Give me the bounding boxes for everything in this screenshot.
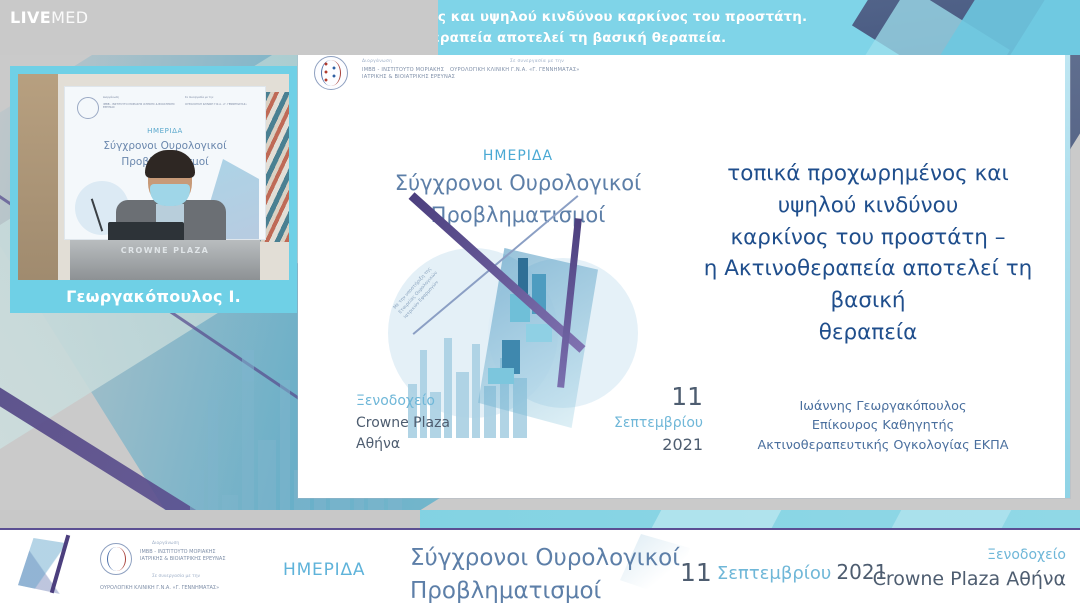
backdrop-coop-label: Σε συνεργασία με την (185, 96, 213, 99)
podium: CROWNE PLAZA (70, 240, 260, 280)
livemed-logo-bold: LIVE (10, 8, 51, 27)
speaker-name-band: Γεωργακόπουλος Ι. (10, 280, 297, 313)
footer-dna-helix-icon (107, 547, 126, 571)
slide-event-title: Σύγχρονοι Ουρολογικοί Προβληματισμοί (388, 168, 648, 231)
livemed-logo-light: MED (51, 8, 88, 27)
footer-kicker: ΗΜΕΡΙΔΑ (283, 560, 365, 580)
podium-label: CROWNE PLAZA (70, 246, 260, 255)
slide-body-line-2: καρκίνος του προστάτη – (688, 222, 1048, 254)
footer-event-title-line-2: Προβληματισμοί (410, 575, 680, 608)
slide-venue-hotel: Crowne Plaza (356, 413, 450, 435)
slide-org-name-line-2: ΙΑΤΡΙΚΗΣ & ΒΙΟΙΑΤΡΙΚΗΣ ΕΡΕΥΝΑΣ (362, 74, 455, 81)
slide-venue-city: Αθήνα (356, 434, 450, 456)
speaker-video-feed[interactable]: Διοργάνωση ΙΜΒΒ - ΙΝΣΤΙΤΟΥΤΟ ΜΟΡΙΑΚΗΣ ΙΑ… (18, 74, 289, 280)
footer-artwork (18, 538, 104, 600)
footer-event-title-line-1: Σύγχρονοι Ουρολογικοί (410, 542, 680, 575)
event-footer-banner: Διοργάνωση ΙΜΒΒ - ΙΝΣΤΙΤΟΥΤΟ ΜΟΡΙΑΚΗΣ ΙΑ… (0, 528, 1080, 608)
slide-coop-name: ΟΥΡΟΛΟΓΙΚΗ ΚΛΙΝΙΚΗ Γ.Ν.Α. «Γ. ΓΕΝΝΗΜΑΤΑΣ… (450, 67, 580, 74)
slide-coop-label: Σε συνεργασία με την (510, 59, 564, 64)
slide-body-line-4: θεραπεία (688, 317, 1048, 349)
footer-org-label: Διοργάνωση (152, 541, 179, 546)
slide-title-block: ΗΜΕΡΙΔΑ Σύγχρονοι Ουρολογικοί Προβληματι… (388, 148, 648, 231)
credit-department: Ακτινοθεραπευτικής Ογκολογίας ΕΚΠΑ (718, 436, 1048, 456)
slide-venue-label: Ξενοδοχείο (356, 391, 450, 413)
footer-coop-label: Σε συνεργασία με την (152, 574, 200, 579)
presentation-slide[interactable]: Διοργάνωση ΙΜΒΒ - ΙΝΣΤΙΤΟΥΤΟ ΜΟΡΙΑΚΗΣ ΙΑ… (298, 48, 1070, 498)
slide-kicker: ΗΜΕΡΙΔΑ (388, 148, 648, 164)
dna-dots-icon (323, 60, 337, 86)
backdrop-kicker: ΗΜΕΡΙΔΑ (65, 127, 265, 135)
speaker-hair (145, 150, 195, 178)
footer-date-month: Σεπτεμβρίου (717, 563, 831, 584)
webinar-player: Τοπικά προχωρημένος και υψηλού κινδύνου … (0, 0, 1080, 608)
backdrop-coop-name: ΟΥΡΟΛΟΓΙΚΗ ΚΛΙΝΙΚΗ Γ.Ν.Α. «Γ. ΓΕΝΝΗΜΑΤΑΣ… (185, 103, 261, 106)
slide-org-label: Διοργάνωση (362, 59, 392, 64)
slide-speaker-credit: Ιωάννης Γεωργακόπουλος Επίκουρος Καθηγητ… (718, 397, 1048, 456)
footer-date-day: 11 (680, 558, 712, 587)
slide-right-edge-accent (1065, 48, 1070, 498)
footer-event-title: Σύγχρονοι Ουρολογικοί Προβληματισμοί (410, 542, 680, 607)
livemed-logo[interactable]: LIVEMED (10, 8, 89, 27)
video-wood-panel (18, 74, 58, 280)
slide-body-title: τοπικά προχωρημένος και υψηλού κινδύνου … (688, 158, 1048, 349)
credit-name: Ιωάννης Γεωργακόπουλος (718, 397, 1048, 417)
slide-body-line-1: τοπικά προχωρημένος και υψηλού κινδύνου (688, 158, 1048, 222)
speaker-video-panel[interactable]: Διοργάνωση ΙΜΒΒ - ΙΝΣΤΙΤΟΥΤΟ ΜΟΡΙΑΚΗΣ ΙΑ… (10, 66, 297, 313)
imbb-logo-icon (314, 56, 348, 90)
backdrop-org-logo-icon (77, 97, 99, 119)
slide-date-day: 11 (583, 379, 703, 414)
slide-body-line-3: η Ακτινοθεραπεία αποτελεί τη βασική (688, 253, 1048, 317)
slide-date-month: Σεπτεμβρίου (583, 414, 703, 434)
slide-event-title-line-1: Σύγχρονοι Ουρολογικοί (388, 168, 648, 200)
footer-coop-name: ΟΥΡΟΛΟΓΙΚΗ ΚΛΙΝΙΚΗ Γ.Ν.Α. «Γ. ΓΕΝΝΗΜΑΤΑΣ… (100, 585, 219, 592)
slide-header: Διοργάνωση ΙΜΒΒ - ΙΝΣΤΙΤΟΥΤΟ ΜΟΡΙΑΚΗΣ ΙΑ… (298, 48, 1070, 102)
footer-date: 11 Σεπτεμβρίου 2021 (680, 558, 887, 587)
slide-date-year: 2021 (583, 434, 703, 456)
backdrop-org-name: ΙΜΒΒ - ΙΝΣΤΙΤΟΥΤΟ ΜΟΡΙΑΚΗΣ ΙΑΤΡΙΚΗΣ & ΒΙ… (103, 103, 177, 109)
footer-imbb-logo-icon (100, 543, 132, 575)
slide-venue-block: Ξενοδοχείο Crowne Plaza Αθήνα (356, 391, 450, 456)
slide-date-block: 11 Σεπτεμβρίου 2021 (583, 379, 703, 456)
speaker-name: Γεωργακόπουλος Ι. (66, 287, 241, 306)
footer-venue: Ξενοδοχείο Crowne Plaza Αθήνα (873, 546, 1066, 592)
credit-role: Επίκουρος Καθηγητής (718, 416, 1048, 436)
footer-venue-name: Crowne Plaza Αθήνα (873, 566, 1066, 593)
footer-org-name-line-2: ΙΑΤΡΙΚΗΣ & ΒΙΟΙΑΤΡΙΚΗΣ ΕΡΕΥΝΑΣ (140, 556, 226, 563)
footer-venue-label: Ξενοδοχείο (873, 546, 1066, 566)
backdrop-org-label: Διοργάνωση (103, 96, 119, 99)
